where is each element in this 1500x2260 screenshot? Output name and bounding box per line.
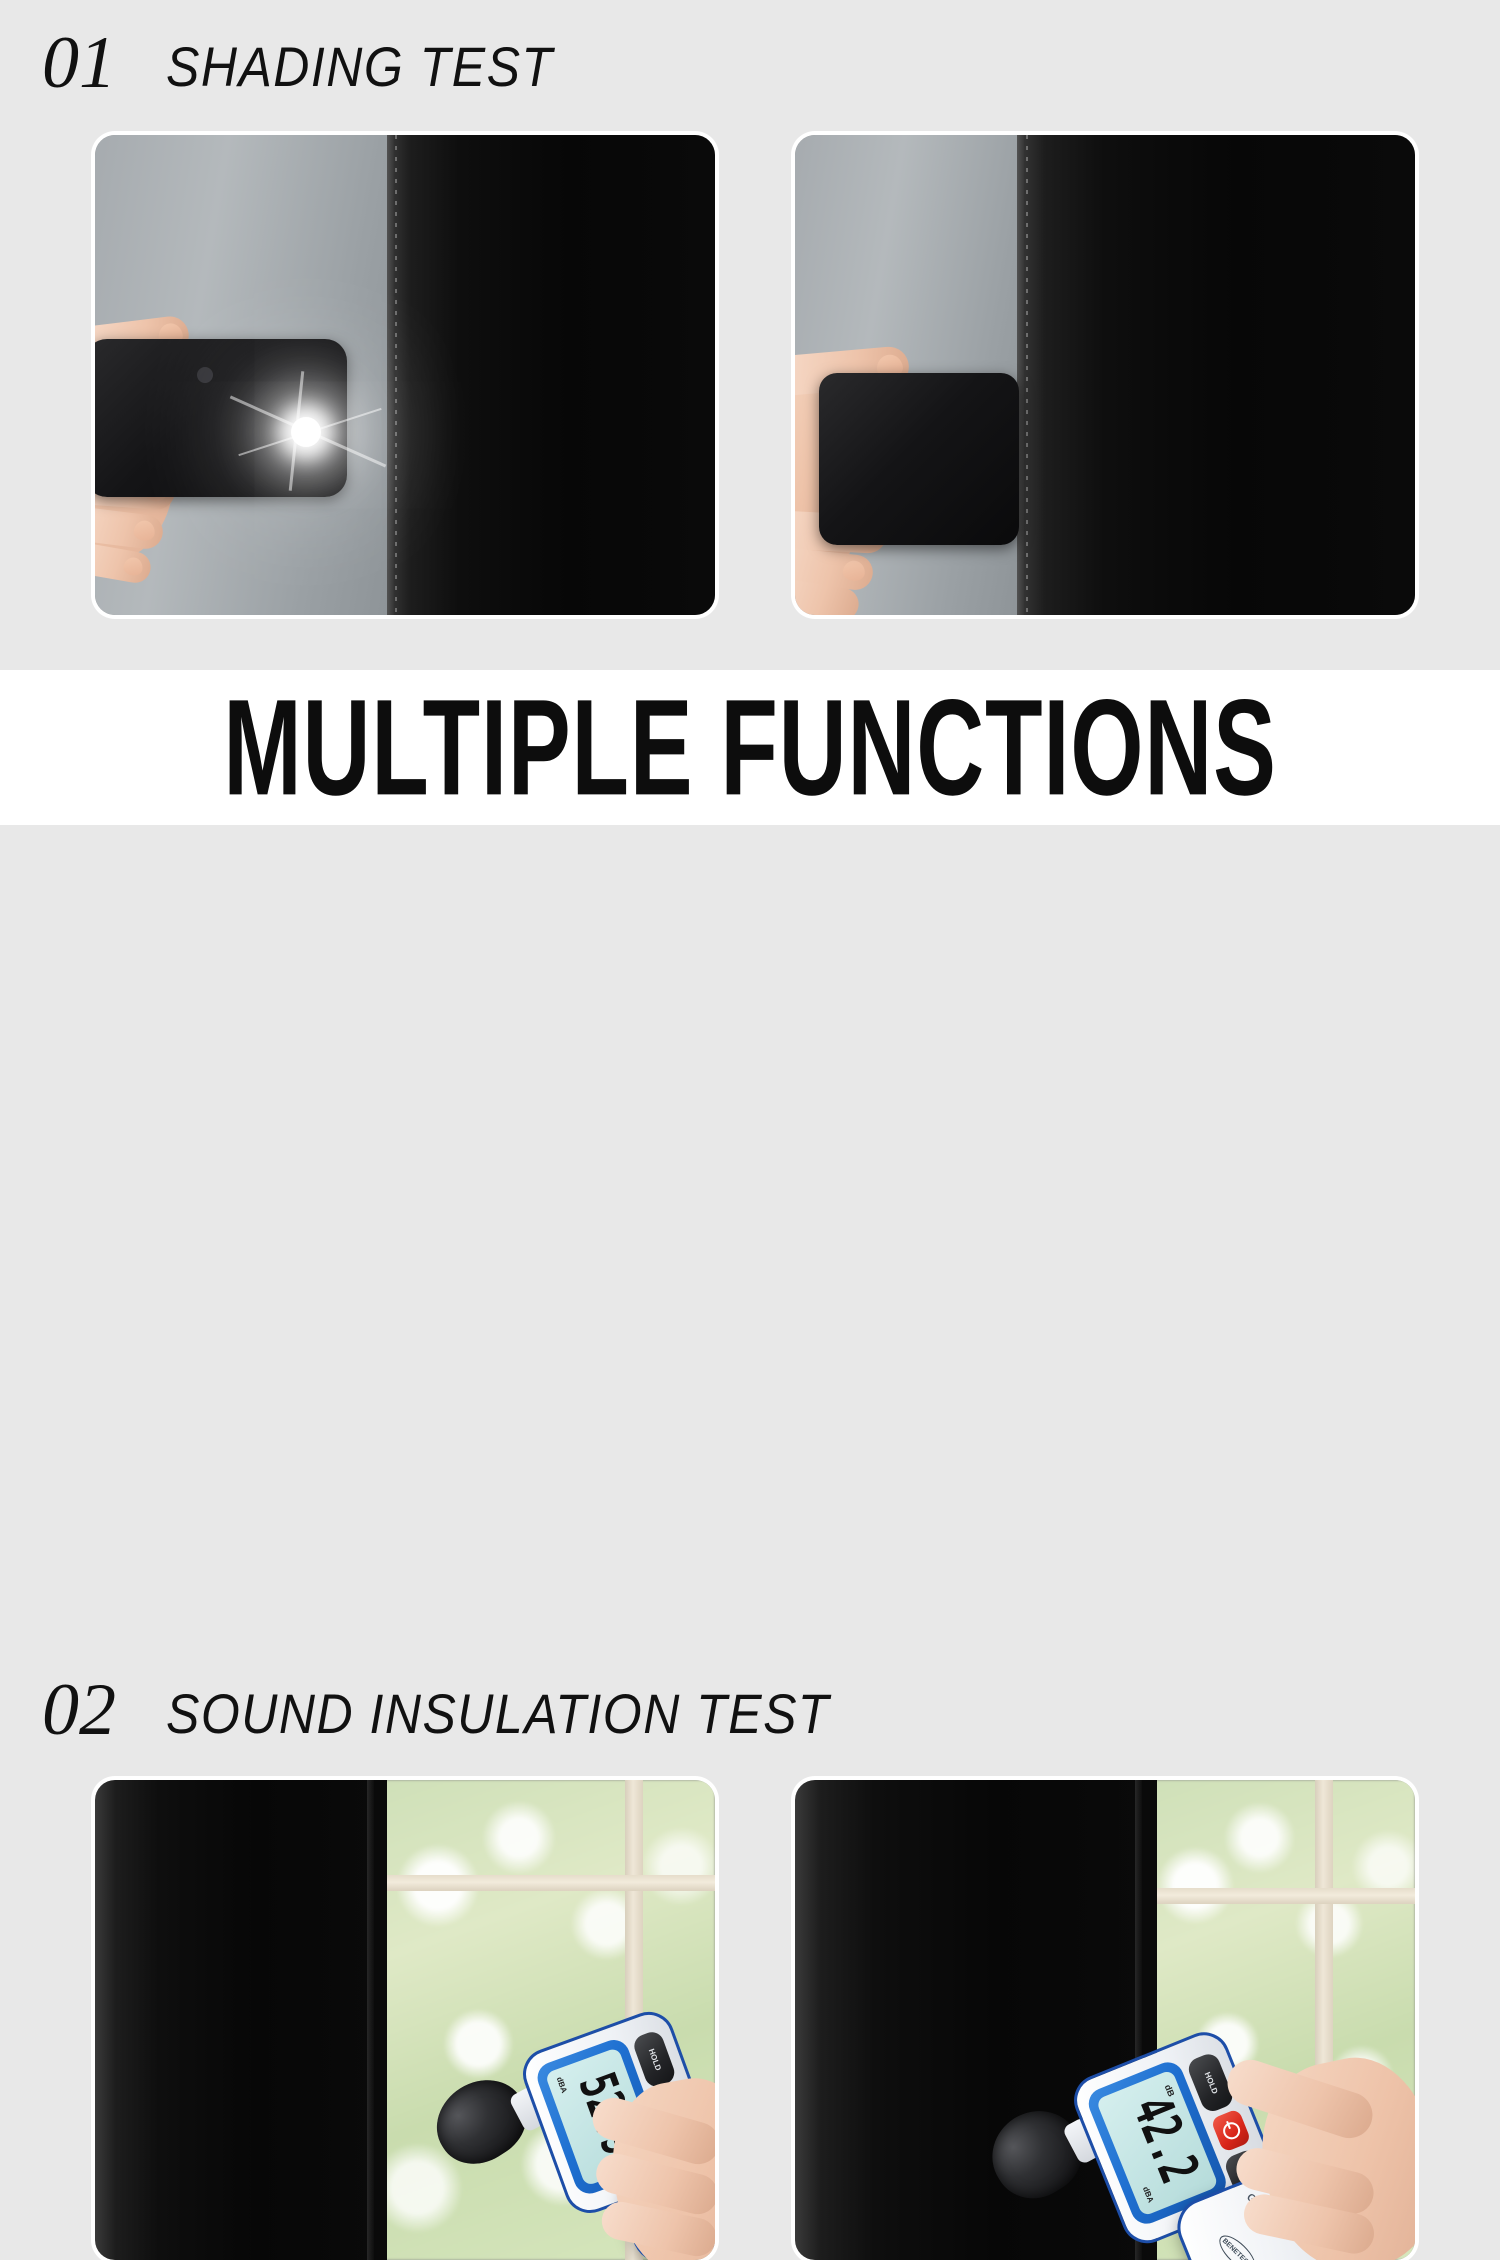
photo-flashlight-blocked [795, 135, 1415, 615]
section-number: 01 [42, 26, 116, 100]
lcd-mode-label: dBA [1141, 2185, 1156, 2204]
section-shading-test: 01 SHADING TEST [0, 0, 1500, 670]
photo-meter-against-curtain: 42.2 dB dBA HOLD MAX/MIN [795, 1780, 1415, 2260]
window-mullion-horizontal [377, 1875, 715, 1891]
heading-shading-test: 01 SHADING TEST [42, 26, 553, 100]
section-number: 02 [42, 1673, 116, 1747]
curtain-panel [1017, 135, 1415, 615]
brand-logo: BENETECH [1214, 2230, 1261, 2260]
hold-button-label: HOLD [1202, 2070, 1219, 2094]
banner-multiple-functions: MULTIPLE FUNCTIONS [0, 670, 1500, 825]
heading-sound-insulation-test: 02 SOUND INSULATION TEST [42, 1673, 830, 1747]
fingernail [122, 556, 144, 577]
section-title: SOUND INSULATION TEST [166, 1686, 830, 1742]
curtain-stitching [1026, 135, 1028, 615]
curtain-edge-highlight [367, 1780, 374, 2260]
lcd-reading: 42.2 [1123, 2090, 1206, 2191]
window-mullion-horizontal [1147, 1888, 1415, 1904]
curtain-seam [387, 135, 394, 615]
camera-lens-icon [197, 367, 213, 383]
curtain-stitching [395, 135, 397, 615]
photo-content [95, 135, 715, 615]
fingernail [842, 560, 866, 582]
fingernail [133, 519, 156, 541]
smartphone [819, 373, 1019, 545]
lcd-mode-label: dBA [555, 2076, 569, 2095]
photo-content [795, 135, 1415, 615]
power-button[interactable] [1210, 2108, 1251, 2153]
photo-content: 42.2 dB dBA HOLD MAX/MIN [795, 1780, 1415, 2260]
section-sound-insulation-test: 02 SOUND INSULATION TEST 52.9 dB dBA [0, 825, 1500, 1500]
curtain-panel [95, 1780, 387, 2260]
photo-content: 52.9 dB dBA HOLD MAX/MIN [95, 1780, 715, 2260]
curtain-seam [1017, 135, 1024, 615]
banner-title: MULTIPLE FUNCTIONS [223, 679, 1276, 816]
curtain-panel [387, 135, 715, 615]
section-title: SHADING TEST [166, 39, 553, 95]
photo-flashlight-visible [95, 135, 715, 615]
hold-button-label: HOLD [646, 2047, 662, 2071]
photo-meter-open-window: 52.9 dB dBA HOLD MAX/MIN [95, 1780, 715, 2260]
power-icon [1220, 2119, 1242, 2141]
